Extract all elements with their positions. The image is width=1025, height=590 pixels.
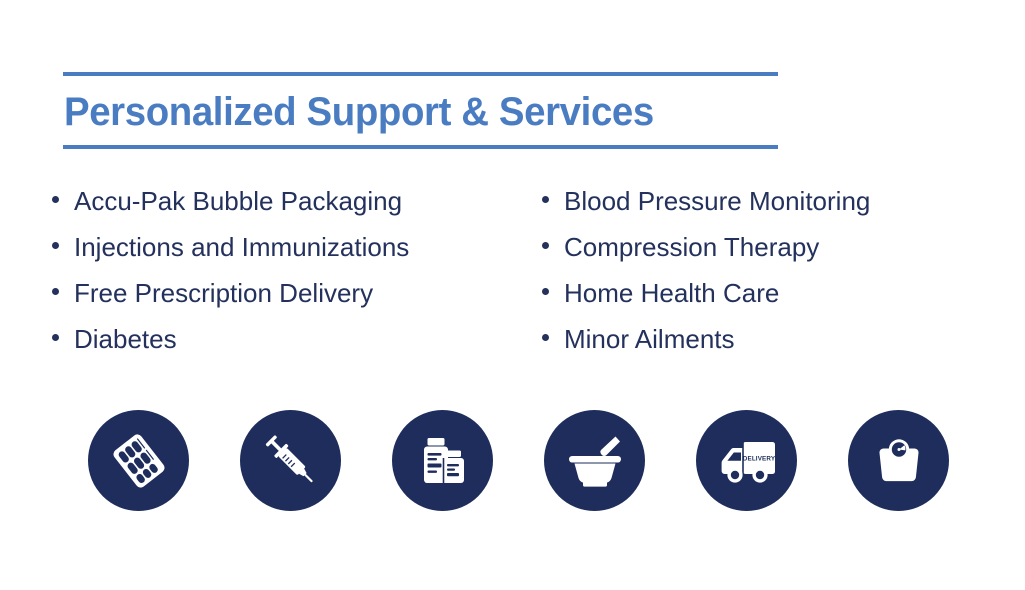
delivery-van-label: DELIVERY — [742, 455, 775, 462]
service-list-right: Blood Pressure Monitoring Compression Th… — [542, 178, 1002, 362]
icon-badge-weight-scale — [848, 410, 949, 511]
list-item: Diabetes — [52, 316, 542, 362]
syringe-icon — [258, 428, 324, 494]
list-item: Compression Therapy — [542, 224, 1002, 270]
service-label: Compression Therapy — [564, 224, 819, 270]
mortar-and-pestle-icon — [562, 428, 628, 494]
service-label: Injections and Immunizations — [74, 224, 409, 270]
bullet-icon — [542, 196, 549, 203]
list-item: Accu-Pak Bubble Packaging — [52, 178, 542, 224]
service-label: Accu-Pak Bubble Packaging — [74, 178, 402, 224]
icon-badge-mortar-and-pestle — [544, 410, 645, 511]
delivery-van-icon: DELIVERY — [711, 425, 783, 497]
bullet-icon — [542, 288, 549, 295]
page-heading-block: Personalized Support & Services — [63, 72, 778, 149]
pill-bottles-icon — [410, 428, 476, 494]
icon-badge-syringe — [240, 410, 341, 511]
list-item: Free Prescription Delivery — [52, 270, 542, 316]
bullet-icon — [52, 288, 59, 295]
page-title: Personalized Support & Services — [63, 76, 749, 145]
service-icon-row: DELIVERY — [88, 410, 949, 511]
list-item: Injections and Immunizations — [52, 224, 542, 270]
service-label: Free Prescription Delivery — [74, 270, 373, 316]
bullet-icon — [52, 334, 59, 341]
bullet-icon — [52, 196, 59, 203]
service-label: Minor Ailments — [564, 316, 735, 362]
heading-bottom-rule — [63, 145, 778, 149]
blister-pack-icon — [106, 428, 172, 494]
service-label: Blood Pressure Monitoring — [564, 178, 870, 224]
icon-badge-pill-bottles — [392, 410, 493, 511]
service-label: Diabetes — [74, 316, 177, 362]
bullet-icon — [542, 334, 549, 341]
list-item: Blood Pressure Monitoring — [542, 178, 1002, 224]
icon-badge-delivery-van: DELIVERY — [696, 410, 797, 511]
bullet-icon — [52, 242, 59, 249]
list-item: Minor Ailments — [542, 316, 1002, 362]
list-item: Home Health Care — [542, 270, 1002, 316]
service-list-left: Accu-Pak Bubble Packaging Injections and… — [52, 178, 542, 362]
icon-badge-blister-pack — [88, 410, 189, 511]
service-label: Home Health Care — [564, 270, 779, 316]
bullet-icon — [542, 242, 549, 249]
weight-scale-icon — [866, 428, 932, 494]
services-lists: Accu-Pak Bubble Packaging Injections and… — [52, 178, 1012, 362]
